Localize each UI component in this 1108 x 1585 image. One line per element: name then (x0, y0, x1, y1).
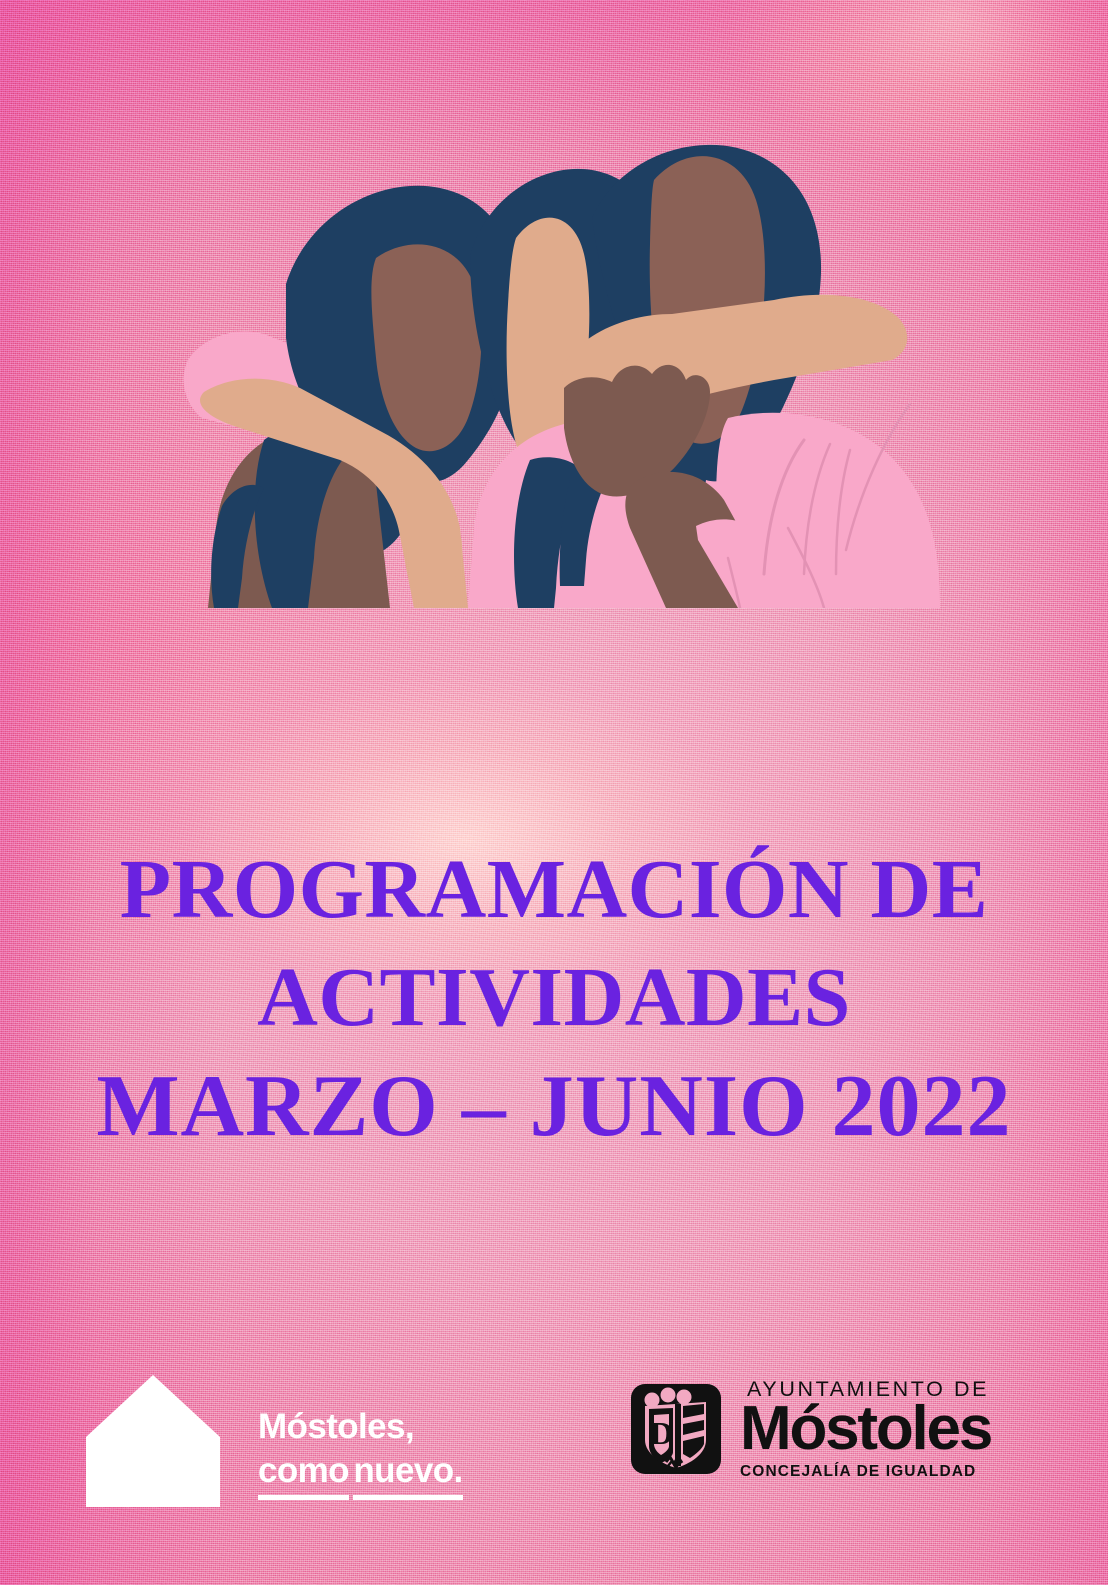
title-line-2: ACTIVIDADES (0, 944, 1108, 1052)
mostoles-como-nuevo-text: Móstoles, como nuevo. (258, 1405, 463, 1511)
poster-title: PROGRAMACIÓN DE ACTIVIDADES MARZO – JUNI… (0, 836, 1108, 1164)
mostoles-coat-of-arms-icon: D (628, 1378, 724, 1478)
ayuntamiento-mostoles-logo: D AYUNTAMIENTO DE Móstoles CONCEJALÍA DE… (628, 1368, 1038, 1488)
title-line-1: PROGRAMACIÓN DE (0, 836, 1108, 944)
ayuntamiento-sub-line: CONCEJALÍA DE IGUALDAD (740, 1463, 991, 1481)
svg-text:D: D (650, 1415, 673, 1451)
house-icon (82, 1371, 224, 1511)
poster-canvas: PROGRAMACIÓN DE ACTIVIDADES MARZO – JUNI… (0, 0, 1108, 1585)
nuevo-line-3: nuevo. (353, 1449, 462, 1500)
nuevo-line-1: Móstoles, (258, 1405, 463, 1448)
ayuntamiento-text-block: AYUNTAMIENTO DE Móstoles CONCEJALÍA DE I… (740, 1377, 991, 1481)
ayuntamiento-main-line: Móstoles (740, 1399, 991, 1459)
mostoles-como-nuevo-logo: Móstoles, como nuevo. (82, 1336, 482, 1511)
nuevo-line-2: como (258, 1449, 349, 1500)
three-women-embracing-illustration (168, 88, 958, 608)
title-line-3: MARZO – JUNIO 2022 (0, 1051, 1108, 1164)
